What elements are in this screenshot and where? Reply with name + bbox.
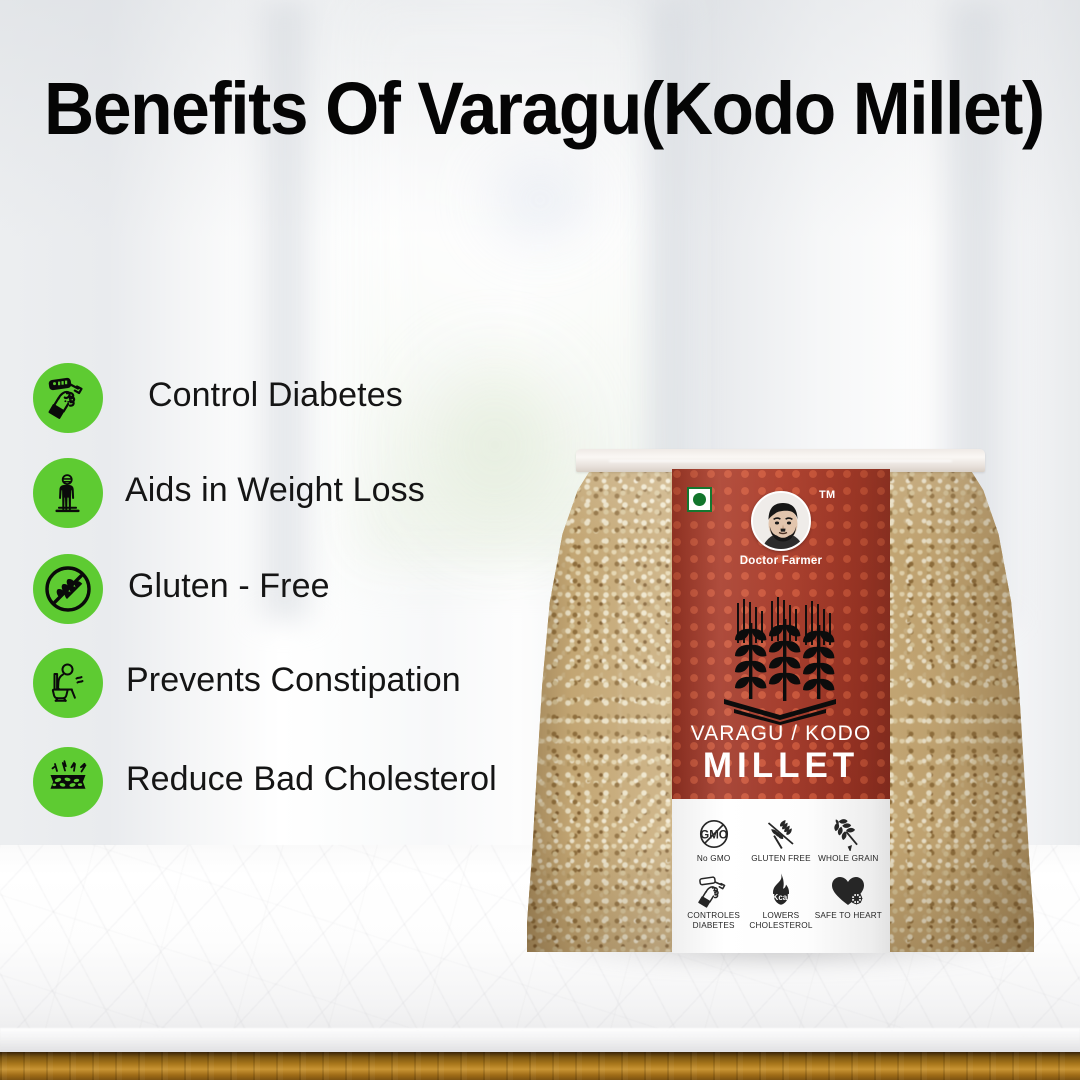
glucose-meter-icon <box>695 868 733 908</box>
benefit-item-weight-loss <box>33 458 103 528</box>
package-highlight-right <box>942 479 944 929</box>
benefit-item-gluten-free <box>33 554 103 624</box>
product-name: MILLET <box>672 746 890 786</box>
badge-no-gmo: GMO No GMO <box>680 811 747 864</box>
package-highlight-left <box>619 479 621 929</box>
brand-lockup: Doctor Farmer <box>672 491 890 567</box>
product-benefits-poster: Benefits Of Varagu(Kodo Millet) <box>0 0 1080 1080</box>
badge-gluten-free: GLUTEN FREE <box>747 811 814 864</box>
benefits-list: Control Diabetes Aids in Weight Loss <box>0 0 560 1080</box>
badge-whole-grain: WHOLE GRAIN <box>815 811 882 864</box>
trademark-symbol: TM <box>819 489 835 501</box>
badge-safe-to-heart: SAFE TO HEART <box>815 868 882 931</box>
artery-icon <box>33 747 103 817</box>
toilet-person-icon <box>33 648 103 718</box>
product-package: Doctor Farmer TM <box>527 449 1034 959</box>
badge-label: SAFE TO HEART <box>815 911 882 921</box>
product-subtitle: VARAGU / KODO <box>672 722 890 746</box>
benefit-item-prevents-constipation <box>33 648 103 718</box>
svg-text:GMO: GMO <box>700 829 728 841</box>
badge-label: No GMO <box>697 854 731 864</box>
badge-label: GLUTEN FREE <box>751 854 811 864</box>
badge-lowers-cholesterol: Kcal LOWERS CHOLESTEROL <box>747 868 814 931</box>
package-front-label: Doctor Farmer TM <box>672 469 890 953</box>
product-badges: GMO No GMO <box>680 811 882 931</box>
weight-scale-icon <box>33 458 103 528</box>
badge-label: CONTROLES DIABETES <box>680 911 747 931</box>
badge-label: LOWERS CHOLESTEROL <box>747 911 814 931</box>
crossed-wheat-icon <box>763 811 799 851</box>
badge-controles-diabetes: CONTROLES DIABETES <box>680 868 747 931</box>
kcal-flame-icon: Kcal <box>765 868 797 908</box>
heart-icon <box>830 868 866 908</box>
no-gluten-icon <box>33 554 103 624</box>
wheat-sprig-icon <box>830 811 866 851</box>
benefit-item-control-diabetes <box>33 363 103 433</box>
brand-name-label: Doctor Farmer <box>740 555 823 567</box>
kcal-text: Kcal <box>773 893 790 902</box>
badge-label: WHOLE GRAIN <box>818 854 878 864</box>
no-gmo-icon: GMO <box>697 811 731 851</box>
doctor-farmer-avatar <box>751 491 811 551</box>
glucose-meter-icon <box>33 363 103 433</box>
benefit-item-reduce-cholesterol <box>33 747 103 817</box>
wheat-stalks-logo <box>706 597 856 730</box>
